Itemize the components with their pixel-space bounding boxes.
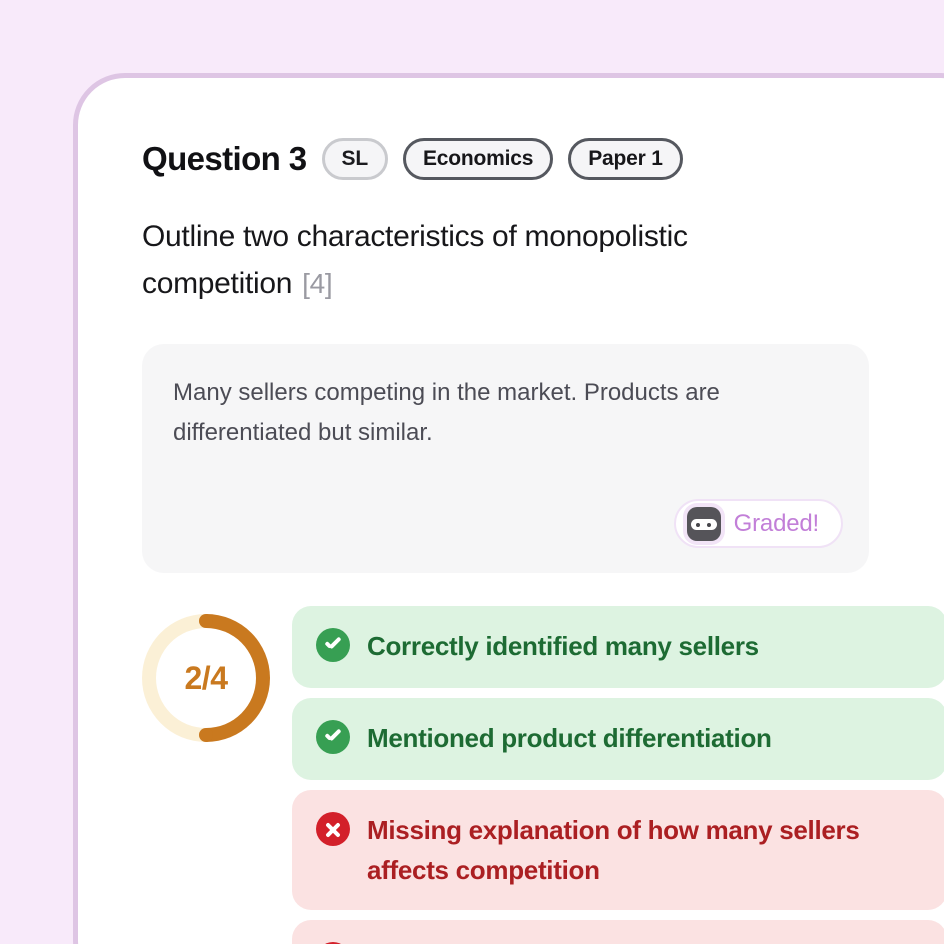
check-circle-icon — [316, 720, 350, 754]
feedback-item-correct-2[interactable]: Mentioned product differentiation — [292, 698, 944, 780]
feedback-section: 2/4 Correctly identified many sellers Me… — [142, 606, 944, 944]
badge-paper[interactable]: Paper 1 — [568, 138, 682, 180]
feedback-text: Missing explanation of how many sellers … — [367, 810, 923, 890]
feedback-item-missing-1[interactable]: Missing explanation of how many sellers … — [292, 790, 944, 910]
graded-label: Graded! — [734, 510, 819, 538]
badge-subject[interactable]: Economics — [403, 138, 553, 180]
feedback-text: Mentioned product differentiation — [367, 718, 772, 758]
graded-badge[interactable]: Graded! — [674, 499, 843, 548]
ring-cap-bottom — [199, 728, 213, 742]
score-value: 2/4 — [185, 660, 228, 697]
page-title: Question 3 — [142, 140, 307, 178]
feedback-item-correct-1[interactable]: Correctly identified many sellers — [292, 606, 944, 688]
question-card: Question 3 SL Economics Paper 1 Outline … — [73, 73, 944, 944]
answer-panel[interactable]: Many sellers competing in the market. Pr… — [142, 344, 869, 573]
card-content: Question 3 SL Economics Paper 1 Outline … — [78, 78, 944, 944]
check-circle-icon — [316, 628, 350, 662]
question-prompt-text: Outline two characteristics of monopolis… — [142, 220, 688, 300]
question-marks: [4] — [302, 268, 332, 299]
question-prompt: Outline two characteristics of monopolis… — [142, 213, 822, 307]
score-ring: 2/4 — [142, 614, 270, 742]
badge-level[interactable]: SL — [322, 138, 388, 180]
question-header: Question 3 SL Economics Paper 1 — [142, 136, 944, 182]
ring-cap-top — [199, 614, 213, 628]
feedback-text: Correctly identified many sellers — [367, 626, 759, 666]
answer-text: Many sellers competing in the market. Pr… — [173, 373, 838, 453]
ninja-face-icon — [687, 507, 721, 541]
feedback-list: Correctly identified many sellers Mentio… — [292, 606, 944, 944]
feedback-item-missing-2[interactable] — [292, 920, 944, 944]
x-circle-icon — [316, 812, 350, 846]
